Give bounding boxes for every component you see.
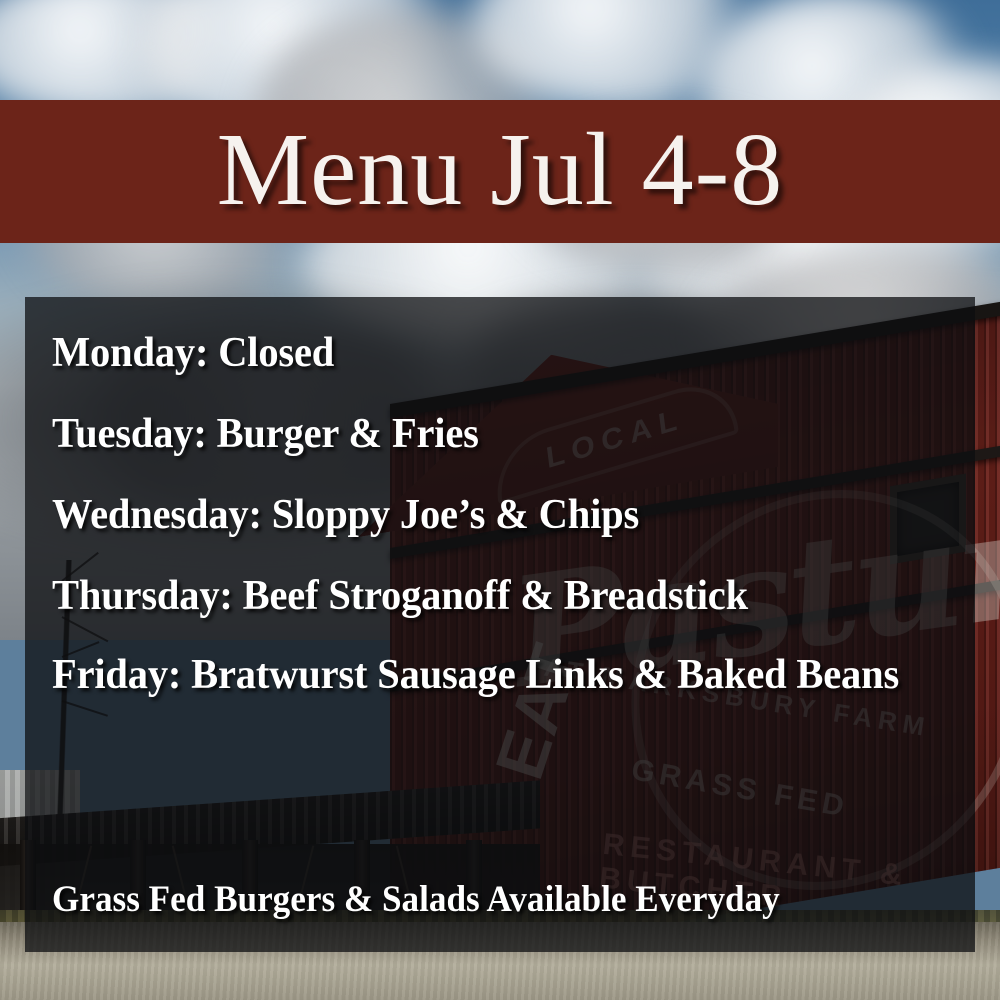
menu-item-monday: Monday: Closed — [52, 331, 901, 376]
menu-footer-note: Grass Fed Burgers & Salads Available Eve… — [52, 881, 780, 920]
page-title: Menu Jul 4-8 — [217, 118, 784, 222]
menu-panel: Monday: Closed Tuesday: Burger & Fries W… — [25, 297, 975, 952]
menu-item-friday: Friday: Bratwurst Sausage Links & Baked … — [52, 653, 901, 698]
title-banner: Menu Jul 4-8 — [0, 100, 1000, 243]
menu-poster: LOCAL Pasture AT MARKSBURY FARM EAT GRAS… — [0, 0, 1000, 1000]
menu-item-tuesday: Tuesday: Burger & Fries — [52, 412, 901, 457]
menu-item-wednesday: Wednesday: Sloppy Joe’s & Chips — [52, 493, 901, 538]
menu-item-thursday: Thursday: Beef Stroganoff & Breadstick — [52, 574, 901, 619]
